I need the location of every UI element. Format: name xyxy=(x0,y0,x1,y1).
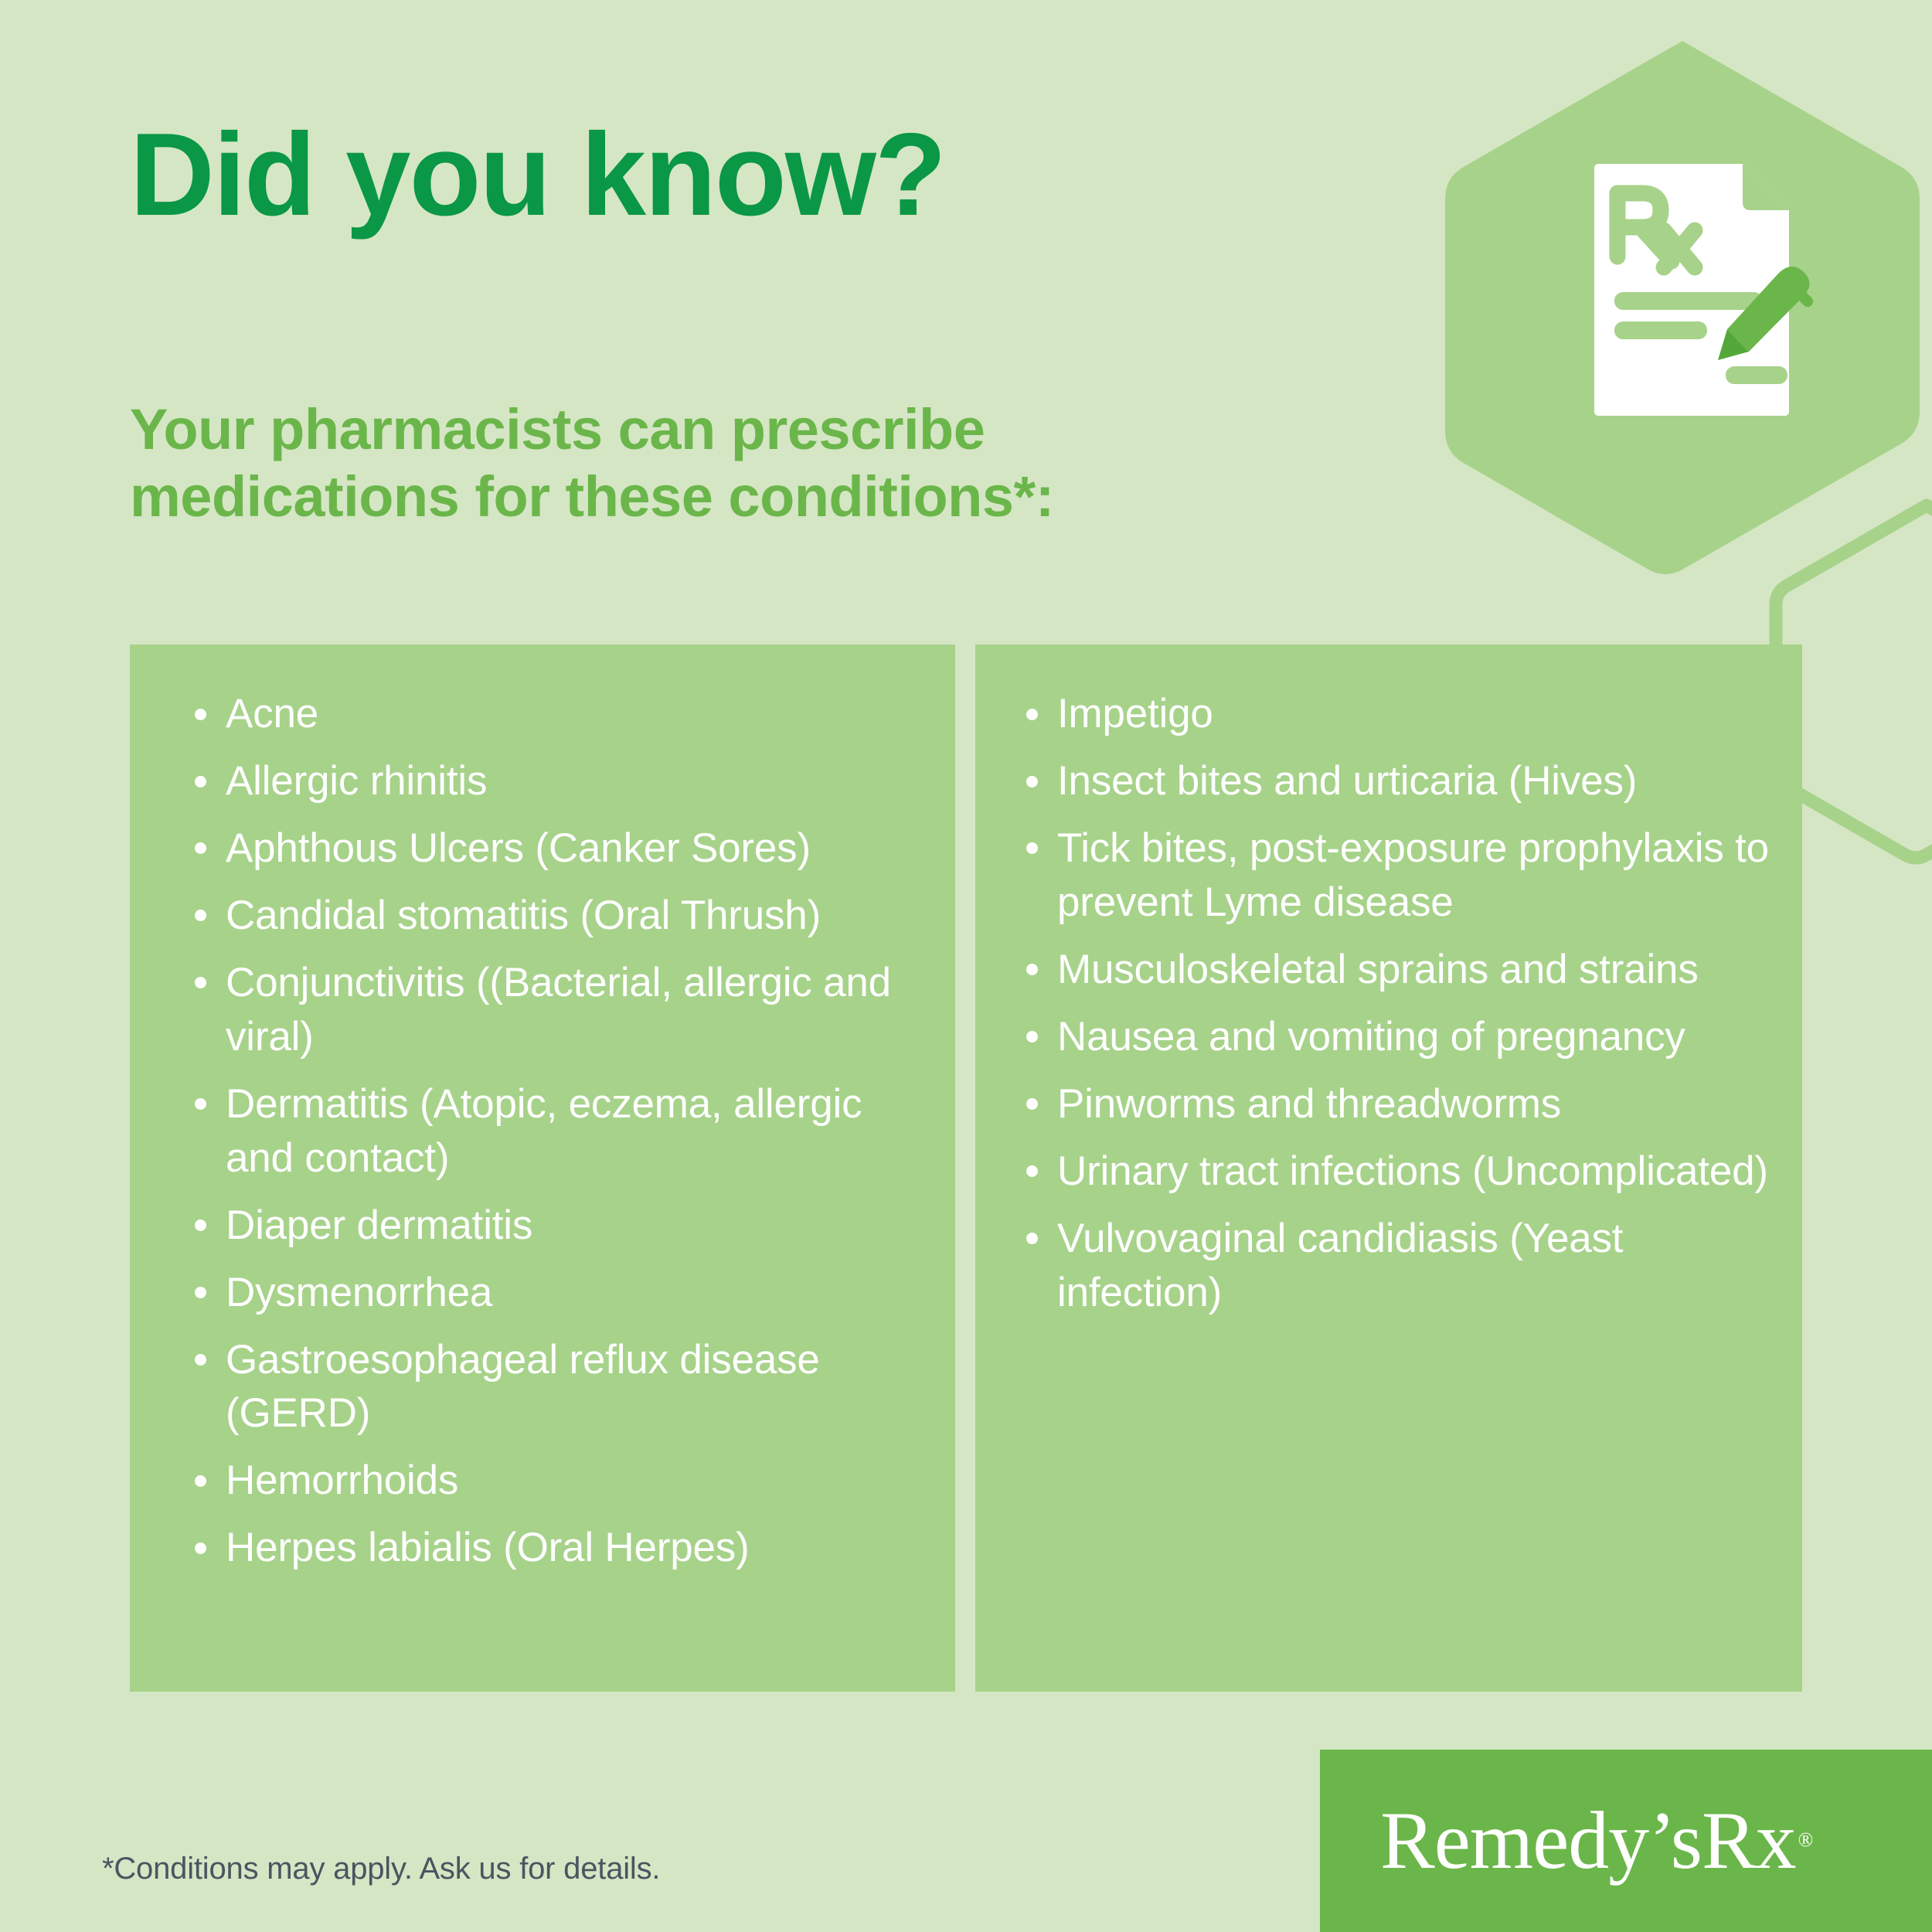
bullet-icon xyxy=(195,842,206,854)
condition-item: Dermatitis (Atopic, eczema, allergic and… xyxy=(192,1077,932,1185)
page-subtitle-line-1: Your pharmacists can prescribe xyxy=(130,396,1289,463)
condition-label: Nausea and vomiting of pregnancy xyxy=(1057,1010,1779,1064)
condition-label: Hemorrhoids xyxy=(226,1454,932,1508)
bullet-icon xyxy=(195,1475,206,1487)
conditions-panel-right: ImpetigoInsect bites and urticaria (Hive… xyxy=(975,645,1802,1692)
bullet-icon xyxy=(1026,1165,1038,1177)
bullet-icon xyxy=(1026,1098,1038,1110)
condition-item: Candidal stomatitis (Oral Thrush) xyxy=(192,889,932,943)
condition-label: Impetigo xyxy=(1057,687,1779,741)
condition-label: Gastroesophageal reflux disease (GERD) xyxy=(226,1333,932,1441)
bullet-icon xyxy=(195,1287,206,1298)
bullet-icon xyxy=(195,977,206,988)
condition-item: Nausea and vomiting of pregnancy xyxy=(1023,1010,1779,1064)
condition-item: Acne xyxy=(192,687,932,741)
condition-label: Conjunctivitis ((Bacterial, allergic and… xyxy=(226,956,932,1064)
condition-item: Dysmenorrhea xyxy=(192,1266,932,1320)
condition-label: Aphthous Ulcers (Canker Sores) xyxy=(226,821,932,876)
brand-logo-block: Remedy’sRx® xyxy=(1320,1750,1932,1932)
bullet-icon xyxy=(195,1219,206,1231)
bullet-icon xyxy=(1026,1233,1038,1244)
brand-wordmark-text: Remedy’sRx xyxy=(1380,1795,1796,1886)
condition-item: Musculoskeletal sprains and strains xyxy=(1023,943,1779,997)
condition-item: Aphthous Ulcers (Canker Sores) xyxy=(192,821,932,876)
condition-label: Vulvovaginal candidiasis (Yeast infectio… xyxy=(1057,1212,1779,1320)
conditions-list-right: ImpetigoInsect bites and urticaria (Hive… xyxy=(1023,687,1779,1320)
condition-item: Diaper dermatitis xyxy=(192,1199,932,1253)
condition-item: Conjunctivitis ((Bacterial, allergic and… xyxy=(192,956,932,1064)
condition-item: Gastroesophageal reflux disease (GERD) xyxy=(192,1333,932,1441)
page-subtitle-line-2: medications for these conditions*: xyxy=(130,463,1289,530)
page-subtitle: Your pharmacists can prescribe medicatio… xyxy=(130,396,1289,531)
condition-item: Hemorrhoids xyxy=(192,1454,932,1508)
bullet-icon xyxy=(195,1354,206,1366)
condition-label: Insect bites and urticaria (Hives) xyxy=(1057,754,1779,808)
bullet-icon xyxy=(1026,709,1038,720)
page-title: Did you know? xyxy=(130,116,945,233)
condition-label: Herpes labialis (Oral Herpes) xyxy=(226,1521,932,1575)
condition-item: Impetigo xyxy=(1023,687,1779,741)
registered-trademark-icon: ® xyxy=(1798,1828,1813,1851)
bullet-icon xyxy=(195,776,206,787)
infographic-poster: Did you know? Your pharmacists can presc… xyxy=(0,0,1932,1932)
conditions-panel-left: AcneAllergic rhinitisAphthous Ulcers (Ca… xyxy=(130,645,955,1692)
condition-label: Dysmenorrhea xyxy=(226,1266,932,1320)
bullet-icon xyxy=(195,1543,206,1554)
condition-item: Urinary tract infections (Uncomplicated) xyxy=(1023,1145,1779,1199)
prescription-document-icon xyxy=(1590,162,1814,417)
condition-label: Musculoskeletal sprains and strains xyxy=(1057,943,1779,997)
brand-wordmark: Remedy’sRx® xyxy=(1380,1800,1810,1882)
condition-label: Urinary tract infections (Uncomplicated) xyxy=(1057,1145,1779,1199)
footnote-text: *Conditions may apply. Ask us for detail… xyxy=(102,1852,660,1886)
condition-label: Dermatitis (Atopic, eczema, allergic and… xyxy=(226,1077,932,1185)
bullet-icon xyxy=(1026,842,1038,854)
bullet-icon xyxy=(1026,964,1038,975)
condition-label: Acne xyxy=(226,687,932,741)
bullet-icon xyxy=(195,709,206,720)
condition-label: Allergic rhinitis xyxy=(226,754,932,808)
bullet-icon xyxy=(195,910,206,921)
bullet-icon xyxy=(195,1098,206,1110)
conditions-list-left: AcneAllergic rhinitisAphthous Ulcers (Ca… xyxy=(192,687,932,1575)
condition-item: Pinworms and threadworms xyxy=(1023,1077,1779,1131)
condition-item: Vulvovaginal candidiasis (Yeast infectio… xyxy=(1023,1212,1779,1320)
condition-item: Tick bites, post-exposure prophylaxis to… xyxy=(1023,821,1779,930)
condition-label: Diaper dermatitis xyxy=(226,1199,932,1253)
bullet-icon xyxy=(1026,1031,1038,1043)
condition-item: Allergic rhinitis xyxy=(192,754,932,808)
condition-label: Pinworms and threadworms xyxy=(1057,1077,1779,1131)
bullet-icon xyxy=(1026,776,1038,787)
condition-item: Herpes labialis (Oral Herpes) xyxy=(192,1521,932,1575)
condition-item: Insect bites and urticaria (Hives) xyxy=(1023,754,1779,808)
condition-label: Candidal stomatitis (Oral Thrush) xyxy=(226,889,932,943)
condition-label: Tick bites, post-exposure prophylaxis to… xyxy=(1057,821,1779,930)
